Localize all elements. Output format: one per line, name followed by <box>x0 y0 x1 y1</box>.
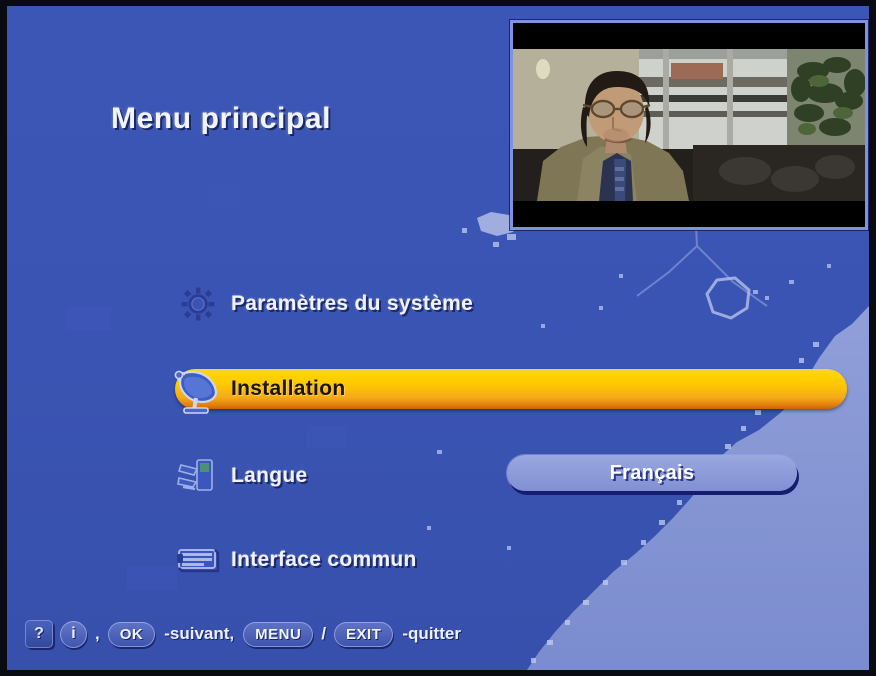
ci-module-icon <box>169 536 227 584</box>
menu-item-label: Langue <box>231 464 307 488</box>
menu-item-label: Interface commun <box>231 548 417 572</box>
exit-action-label: -quitter <box>400 624 463 644</box>
menu-item-installation[interactable]: Installation <box>7 363 869 415</box>
exit-key-button[interactable]: EXIT <box>334 622 393 647</box>
language-icon <box>169 452 227 500</box>
menu-item-label: Installation <box>231 377 345 401</box>
menu-item-language[interactable]: Langue Français <box>7 450 869 502</box>
menu-item-label: Paramètres du système <box>231 292 473 316</box>
satellite-dish-icon <box>169 365 227 413</box>
osd-root: Menu principal <box>7 6 869 670</box>
help-slash: / <box>320 624 327 644</box>
tv-osd-screenshot: Menu principal <box>0 0 876 676</box>
ok-action-label: -suivant, <box>162 624 236 644</box>
menu-item-system-settings[interactable]: Paramètres du système <box>7 278 869 330</box>
menu-item-common-interface[interactable]: Interface commun <box>7 534 869 586</box>
language-value-label: Français <box>610 462 695 485</box>
main-menu: Paramètres du système <box>7 6 869 670</box>
language-value-button[interactable]: Français <box>507 455 797 491</box>
menu-key-button[interactable]: MENU <box>243 622 313 647</box>
help-bar: ? i , OK -suivant, MENU / EXIT -quitter <box>25 620 463 648</box>
help-key-button[interactable]: ? <box>25 620 53 648</box>
info-key-button[interactable]: i <box>60 621 87 648</box>
ok-key-button[interactable]: OK <box>108 622 156 647</box>
help-comma: , <box>94 624 101 644</box>
gear-icon <box>169 280 227 328</box>
